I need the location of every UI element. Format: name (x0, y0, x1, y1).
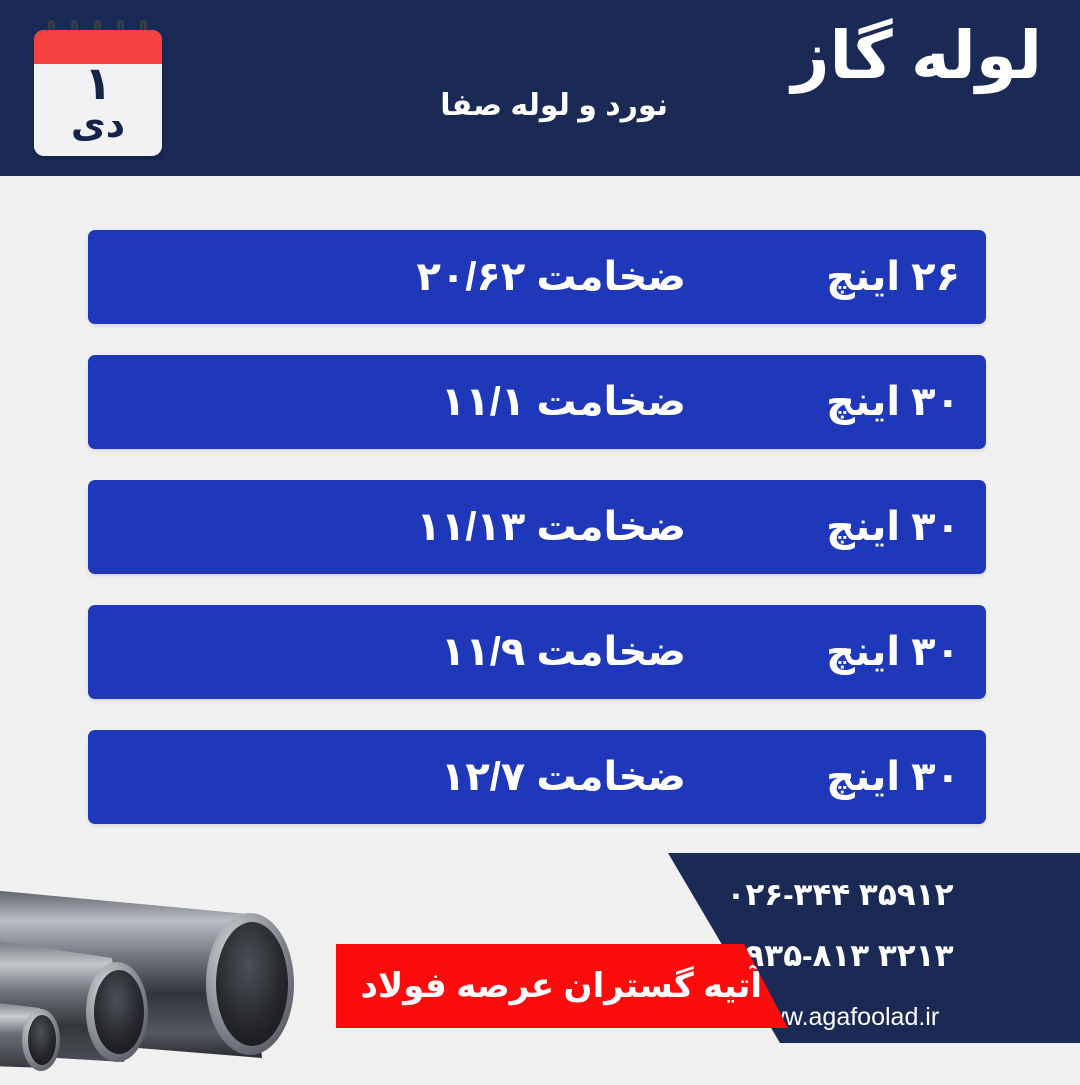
row-thickness-label: ضخامت ۲۰/۶۲ (416, 254, 686, 300)
table-row[interactable]: ۳۰ اینچ ضخامت ۱۲/۷ (88, 730, 986, 824)
calendar-month: دی (34, 106, 162, 144)
product-list: ۲۶ اینچ ضخامت ۲۰/۶۲ ۳۰ اینچ ضخامت ۱۱/۱ ۳… (88, 230, 986, 855)
table-row[interactable]: ۳۰ اینچ ضخامت ۱۱/۱ (88, 355, 986, 449)
calendar-icon: ۱ دی (34, 20, 162, 156)
table-row[interactable]: ۳۰ اینچ ضخامت ۱۱/۱۳ (88, 480, 986, 574)
row-size-label: ۳۰ اینچ (826, 629, 960, 675)
table-row[interactable]: ۳۰ اینچ ضخامت ۱۱/۹ (88, 605, 986, 699)
header-bar: ۱ دی نورد و لوله صفا لوله گاز (0, 0, 1080, 176)
table-row[interactable]: ۲۶ اینچ ضخامت ۲۰/۶۲ (88, 230, 986, 324)
row-thickness-label: ضخامت ۱۲/۷ (441, 754, 686, 800)
row-thickness-label: ضخامت ۱۱/۱ (441, 379, 686, 425)
page-title: لوله گاز (792, 14, 1042, 97)
header-subtitle: نورد و لوله صفا (440, 88, 668, 123)
company-name-label: آتیه گستران عرصه فولاد (360, 966, 762, 1006)
row-thickness-label: ضخامت ۱۱/۹ (441, 629, 686, 675)
row-size-label: ۳۰ اینچ (826, 504, 960, 550)
price-list-poster: ۱ دی نورد و لوله صفا لوله گاز ۲۶ اینچ ضخ… (0, 0, 1080, 1080)
row-size-label: ۳۰ اینچ (826, 754, 960, 800)
company-name-banner: آتیه گستران عرصه فولاد (336, 944, 788, 1028)
calendar-day: ۱ (34, 60, 162, 106)
row-size-label: ۳۰ اینچ (826, 379, 960, 425)
steel-pipes-image (0, 862, 340, 1080)
calendar-body: ۱ دی (34, 30, 162, 156)
contact-phone-primary[interactable]: ۰۲۶-۳۴۴ ۳۵۹۱۲ (630, 877, 1050, 913)
row-thickness-label: ضخامت ۱۱/۱۳ (416, 504, 686, 550)
row-size-label: ۲۶ اینچ (826, 254, 960, 300)
